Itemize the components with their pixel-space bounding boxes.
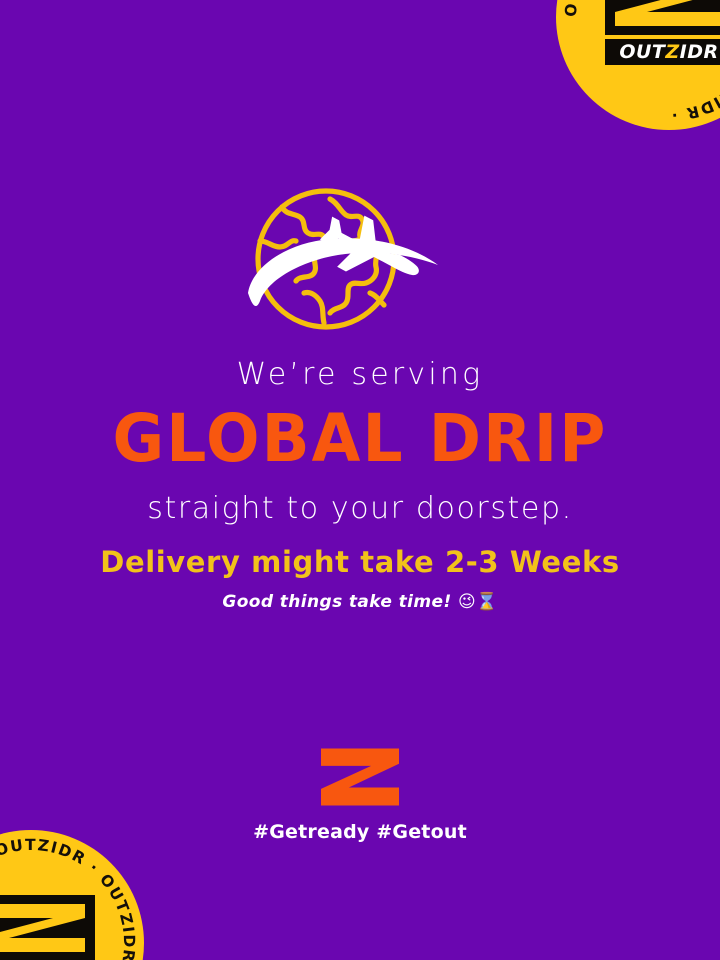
z-logo-icon [613,0,720,28]
delivery-time-text: Delivery might take 2-3 Weeks [0,548,720,577]
delivery-note-text: Good things take time! [222,592,451,612]
footer-block: #Getready #Getout [0,748,720,842]
hero-illustration [0,178,720,344]
page-title: GLOBAL DRIP [0,406,720,472]
delivery-notice: Delivery might take 2-3 Weeks Good thing… [0,548,720,611]
poster-canvas: OUTZIDR · OUTZIDR · OUTZIDR · OUTZIDR · … [0,0,720,960]
subtitle-text: straight to your doorstep. [0,494,720,524]
badge-core: OUTZIDR [0,895,95,960]
badge-wordmark: OUTZIDR [605,39,720,65]
hashtag-tagline: #Getready #Getout [0,823,720,842]
badge-z-mark [605,0,720,35]
badge-core: OUTZIDR [605,0,720,65]
z-logo-icon [321,748,399,806]
wink-hourglass-emoji: 😉⌛ [458,592,498,612]
headline-block: We’re serving GLOBAL DRIP straight to yo… [0,360,720,524]
kicker-text: We’re serving [0,360,720,390]
badge-wordmark-suffix: IDR [680,41,719,63]
badge-z-mark [0,895,95,960]
brand-badge-top-right: OUTZIDR · OUTZIDR · OUTZIDR · OUTZIDR · … [556,0,720,130]
delivery-note: Good things take time! 😉⌛ [0,594,720,611]
brand-z-logo [321,748,399,806]
brand-badge-bottom-left: OUTZIDR · OUTZIDR · OUTZIDR · OUTZIDR · … [0,830,144,960]
z-logo-icon [0,902,87,954]
badge-wordmark-prefix: OUT [619,41,665,63]
badge-wordmark-highlight: Z [665,41,679,63]
